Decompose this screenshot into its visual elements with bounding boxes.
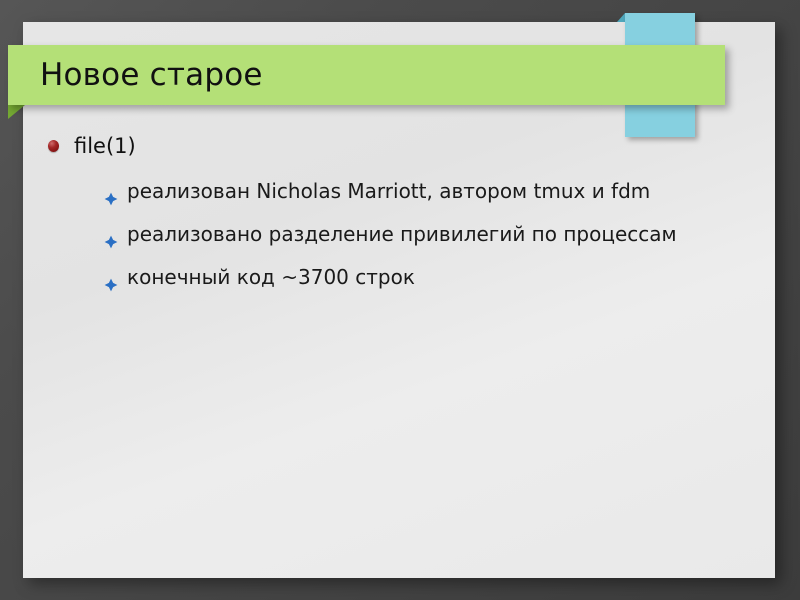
- list-item: реализовано разделение привилегий по про…: [23, 219, 775, 249]
- blue-diamond-bullet-icon: [104, 270, 118, 284]
- list-item: конечный код ~3700 строк: [23, 262, 775, 292]
- accent-band-fold-icon: [617, 13, 625, 22]
- title-banner-fold-icon: [8, 105, 25, 119]
- list-item: file(1): [23, 130, 775, 162]
- list-item-label: конечный код ~3700 строк: [127, 265, 415, 289]
- blue-diamond-bullet-icon: [104, 227, 118, 241]
- sub-list: реализован Nicholas Marriott, автором tm…: [23, 176, 775, 292]
- list-item-label: file(1): [74, 134, 136, 158]
- slide-title: Новое старое: [40, 48, 700, 102]
- list-item-label: реализовано разделение привилегий по про…: [127, 222, 677, 246]
- slide-stage: Новое старое file(1) реализован Nicholas…: [0, 0, 800, 600]
- maroon-sphere-bullet-icon: [48, 140, 59, 152]
- blue-diamond-bullet-icon: [104, 184, 118, 198]
- slide-title-text: Новое старое: [40, 57, 263, 93]
- list-item-label: реализован Nicholas Marriott, автором tm…: [127, 179, 650, 203]
- slide-body: file(1) реализован Nicholas Marriott, ав…: [23, 130, 775, 305]
- list-item: реализован Nicholas Marriott, автором tm…: [23, 176, 775, 206]
